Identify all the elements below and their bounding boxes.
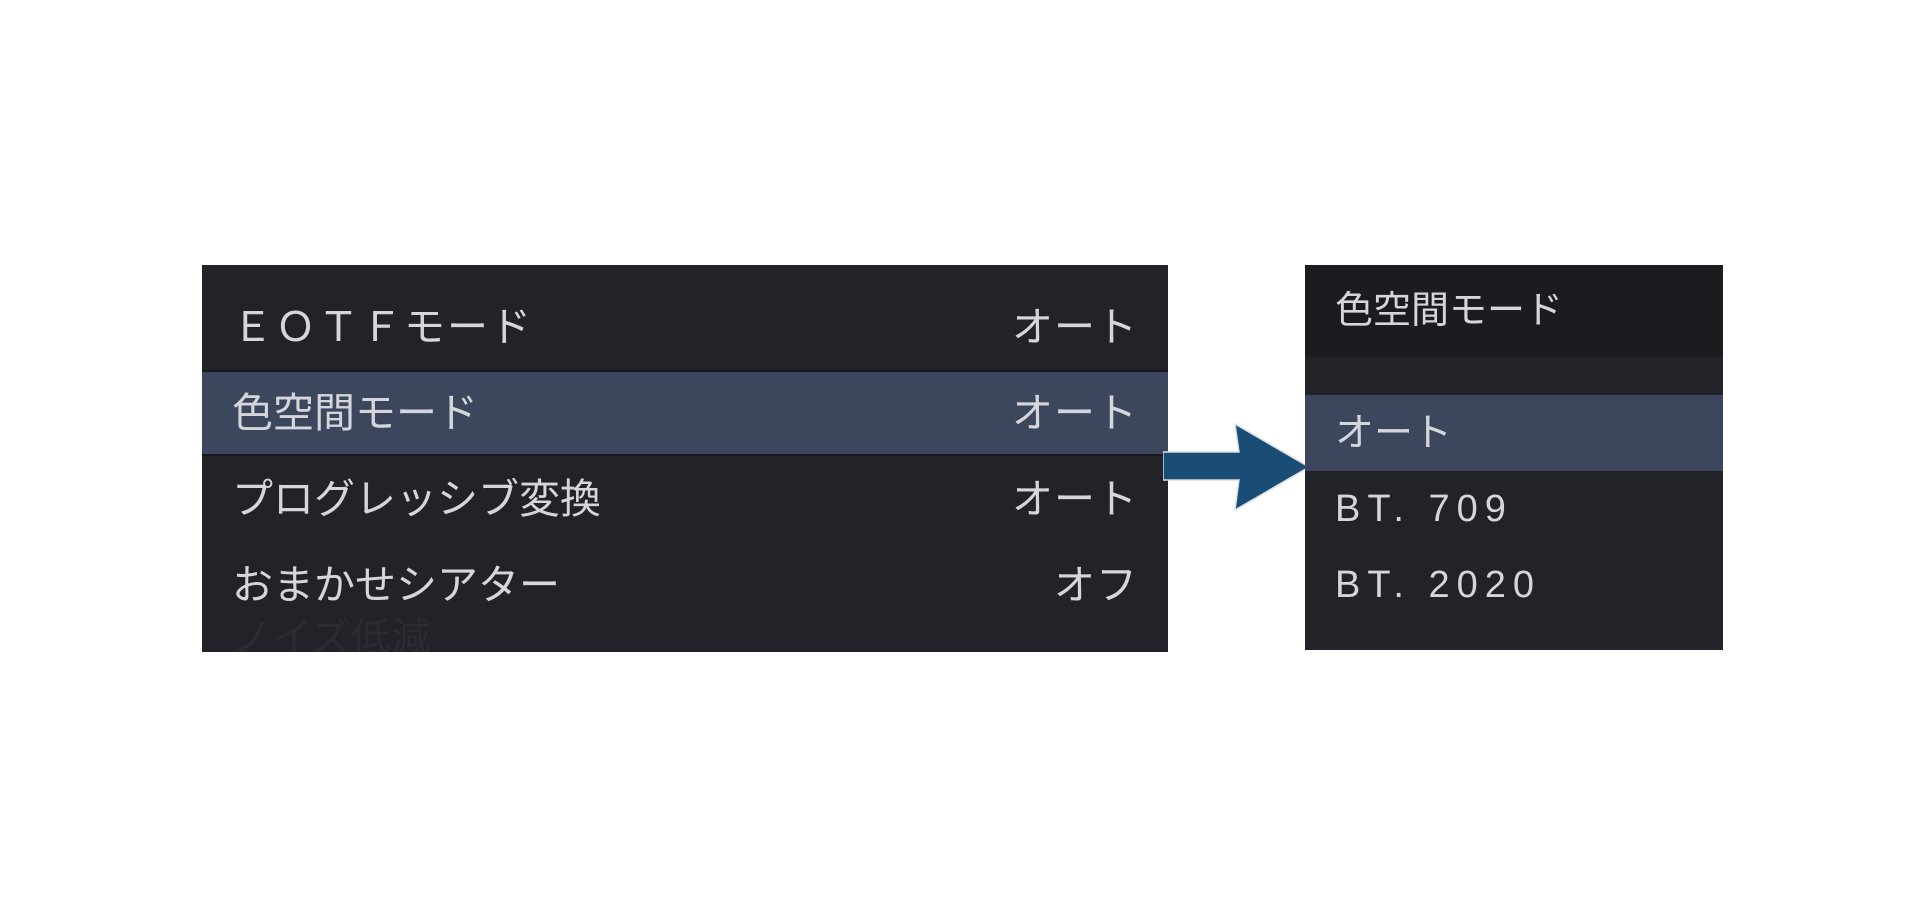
settings-menu-panel: ＥＯＴＦモード オート 色空間モード オート プログレッシブ変換 オート おまか… <box>202 265 1168 652</box>
settings-row-label: おまかせシアター <box>232 565 560 606</box>
settings-row-value: オート <box>1012 307 1138 348</box>
option-popup-bottom-padding <box>1305 623 1723 650</box>
option-item-bt2020[interactable]: BT. 2020 <box>1305 547 1723 623</box>
color-space-option-popup: 色空間モード オート BT. 709 BT. 2020 <box>1305 265 1723 650</box>
settings-row-value: オフ <box>1054 565 1138 606</box>
settings-row-list: ＥＯＴＦモード オート 色空間モード オート プログレッシブ変換 オート おまか… <box>202 284 1168 652</box>
option-popup-spacer <box>1305 357 1723 395</box>
option-item-label: BT. 2020 <box>1335 566 1541 604</box>
option-popup-header: 色空間モード <box>1305 265 1723 357</box>
settings-row-eotf-mode[interactable]: ＥＯＴＦモード オート <box>202 284 1168 370</box>
option-popup-title: 色空間モード <box>1335 292 1563 330</box>
option-item-label: オート <box>1335 414 1452 453</box>
option-item-bt709[interactable]: BT. 709 <box>1305 471 1723 547</box>
settings-row-label-dimmed: ノイズ低減 <box>232 618 431 652</box>
settings-row-label: ＥＯＴＦモード <box>232 307 533 348</box>
option-item-auto[interactable]: オート <box>1305 395 1723 471</box>
settings-row-partial-next[interactable]: ノイズ低減 <box>202 628 1168 652</box>
settings-row-progressive-conversion[interactable]: プログレッシブ変換 オート <box>202 456 1168 542</box>
screenshot-stage: ＥＯＴＦモード オート 色空間モード オート プログレッシブ変換 オート おまか… <box>0 0 1920 900</box>
right-arrow-icon <box>1163 418 1311 514</box>
settings-row-label: プログレッシブ変換 <box>232 479 601 520</box>
settings-row-label: 色空間モード <box>232 393 478 434</box>
settings-row-value: オート <box>1012 479 1138 520</box>
option-item-label: BT. 709 <box>1335 490 1513 528</box>
settings-row-color-space-mode[interactable]: 色空間モード オート <box>202 370 1168 456</box>
settings-row-value: オート <box>1012 393 1138 434</box>
